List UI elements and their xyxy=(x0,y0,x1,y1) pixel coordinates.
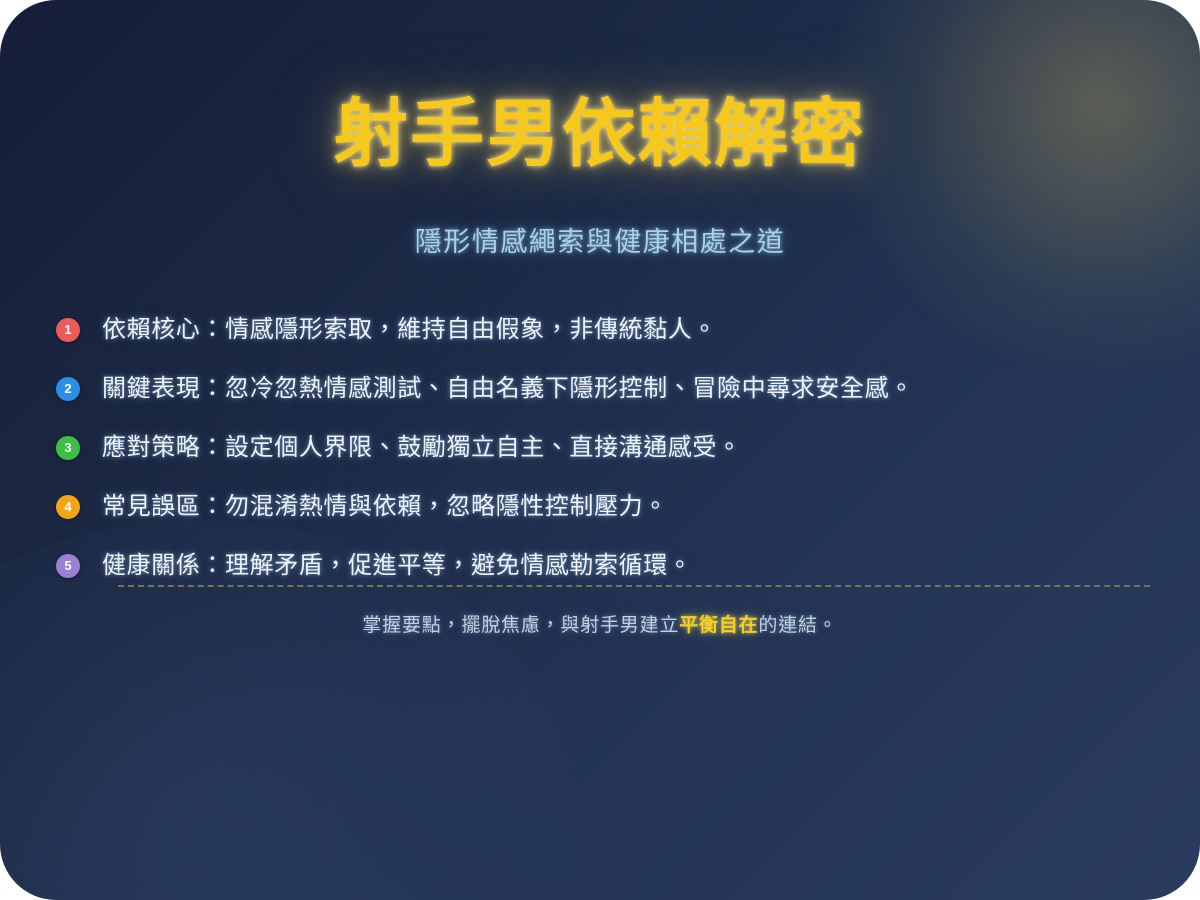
list-item-number-badge: 1 xyxy=(56,318,80,342)
list-item-label: 應對策略：設定個人界限、鼓勵獨立自主、直接溝通感受。 xyxy=(102,433,742,463)
list-item: 3 應對策略：設定個人界限、鼓勵獨立自主、直接溝通感受。 xyxy=(56,418,1156,477)
footer-text-before: 掌握要點，擺脫焦慮，與射手男建立 xyxy=(362,615,679,636)
list-item: 1 依賴核心：情感隱形索取，維持自由假象，非傳統黏人。 xyxy=(56,300,1156,359)
list-item-label: 關鍵表現：忽冷忽熱情感測試、自由名義下隱形控制、冒險中尋求安全感。 xyxy=(102,374,914,404)
list-item-number-badge: 4 xyxy=(56,495,80,519)
list-item-label: 常見誤區：勿混淆熱情與依賴，忽略隱性控制壓力。 xyxy=(102,492,668,522)
list-item: 4 常見誤區：勿混淆熱情與依賴，忽略隱性控制壓力。 xyxy=(56,477,1156,536)
slide-content: 射手男依賴解密 隱形情感繩索與健康相處之道 1 依賴核心：情感隱形索取，維持自由… xyxy=(0,0,1200,900)
page-subtitle: 隱形情感繩索與健康相處之道 xyxy=(0,220,1200,259)
list-item-label: 健康關係：理解矛盾，促進平等，避免情感勒索循環。 xyxy=(102,551,692,581)
key-points-list: 1 依賴核心：情感隱形索取，維持自由假象，非傳統黏人。 2 關鍵表現：忽冷忽熱情… xyxy=(56,300,1156,595)
footer-text-after: 的連結。 xyxy=(758,615,837,636)
dashed-divider xyxy=(118,585,1150,587)
page-title: 射手男依賴解密 xyxy=(0,96,1200,173)
list-item: 2 關鍵表現：忽冷忽熱情感測試、自由名義下隱形控制、冒險中尋求安全感。 xyxy=(56,359,1156,418)
list-item-label: 依賴核心：情感隱形索取，維持自由假象，非傳統黏人。 xyxy=(102,315,717,345)
list-item-number-badge: 2 xyxy=(56,377,80,401)
list-item-number-badge: 5 xyxy=(56,554,80,578)
list-item-number-badge: 3 xyxy=(56,436,80,460)
footer-highlight: 平衡自在 xyxy=(679,615,758,636)
footer-summary: 掌握要點，擺脫焦慮，與射手男建立平衡自在的連結。 xyxy=(0,610,1200,637)
slide-canvas: 射手男依賴解密 隱形情感繩索與健康相處之道 1 依賴核心：情感隱形索取，維持自由… xyxy=(0,0,1200,900)
